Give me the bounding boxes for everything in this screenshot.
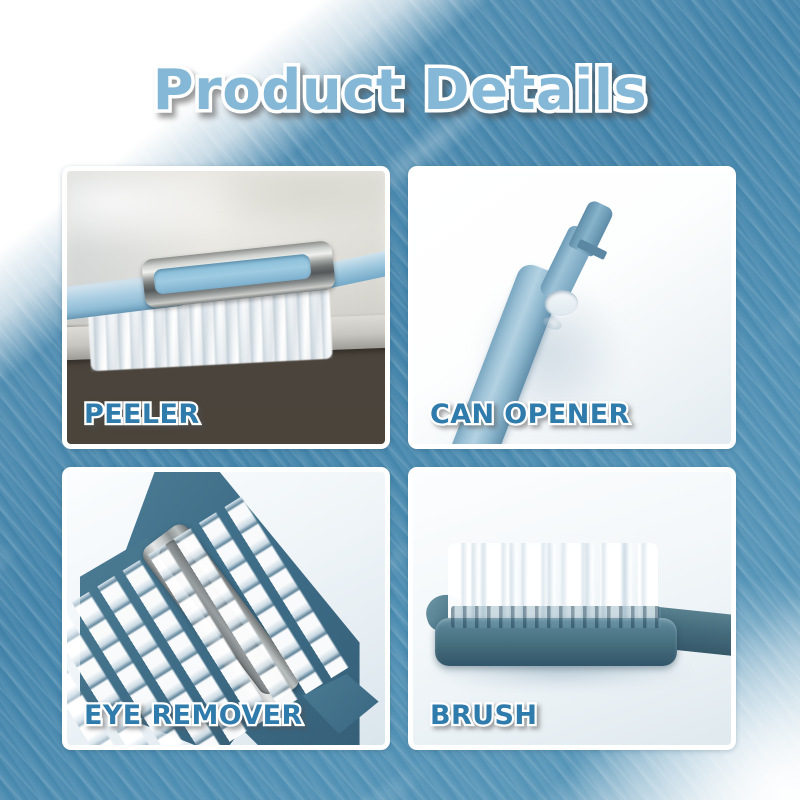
page-header: Product Details <box>0 58 800 123</box>
detail-panel-eye-remover[interactable]: EYE REMOVER <box>62 467 390 750</box>
brush-head-ridges <box>451 606 661 628</box>
panel-caption-eye-remover: EYE REMOVER <box>84 700 303 731</box>
panel-caption-brush: BRUSH <box>430 700 537 731</box>
product-detail-grid: PEELER CAN OPENER EYE REMOVER <box>62 166 736 750</box>
panel-caption-peeler: PEELER <box>84 399 200 430</box>
detail-panel-brush[interactable]: BRUSH <box>408 467 736 750</box>
panel-caption-can-opener: CAN OPENER <box>430 399 630 430</box>
page-title: Product Details <box>153 58 648 123</box>
detail-panel-peeler[interactable]: PEELER <box>62 166 390 449</box>
detail-panel-can-opener[interactable]: CAN OPENER <box>408 166 736 449</box>
can-opener-finger-hole <box>545 290 578 316</box>
